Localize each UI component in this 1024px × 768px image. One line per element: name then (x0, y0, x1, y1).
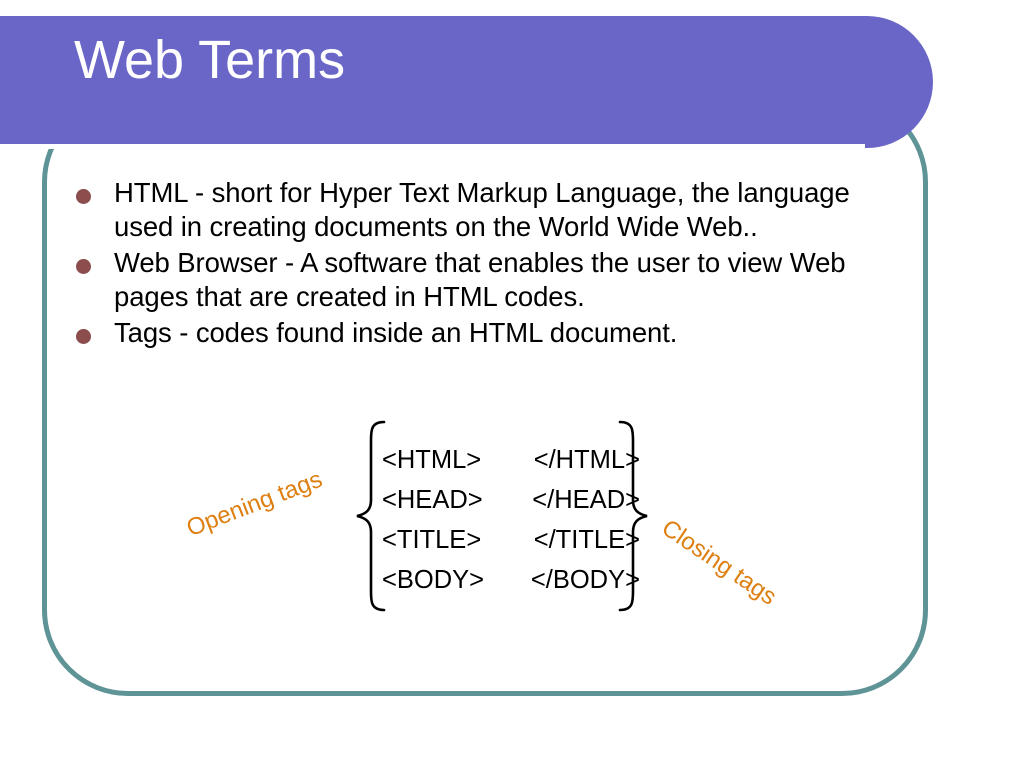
slide-canvas: Web Terms HTML - short for Hyper Text Ma… (0, 0, 1024, 768)
bullet-list: HTML - short for Hyper Text Markup Langu… (76, 176, 916, 352)
page-title: Web Terms (74, 30, 345, 90)
table-row: <BODY> </BODY> (382, 560, 640, 600)
bullet-dot-icon (76, 329, 91, 344)
opening-tag-cell: <BODY> (382, 560, 484, 600)
list-item: Web Browser - A software that enables th… (76, 246, 916, 314)
list-item: Tags - codes found inside an HTML docume… (76, 316, 916, 350)
title-underline-rule (0, 144, 865, 149)
list-item-text: Web Browser - A software that enables th… (114, 246, 916, 314)
bullet-dot-icon (76, 259, 91, 274)
table-row: <TITLE> </TITLE> (382, 520, 640, 560)
tag-rows: <HTML> </HTML> <HEAD> </HEAD> <TITLE> </… (382, 440, 640, 600)
table-row: <HEAD> </HEAD> (382, 480, 640, 520)
list-item-text: Tags - codes found inside an HTML docume… (114, 316, 916, 350)
list-item-text: HTML - short for Hyper Text Markup Langu… (114, 176, 916, 244)
list-item: HTML - short for Hyper Text Markup Langu… (76, 176, 916, 244)
right-curly-brace-icon (616, 418, 650, 614)
opening-tag-cell: <HEAD> (382, 480, 483, 520)
opening-tag-cell: <TITLE> (382, 520, 481, 560)
opening-tag-cell: <HTML> (382, 440, 481, 480)
table-row: <HTML> </HTML> (382, 440, 640, 480)
html-tag-diagram: <HTML> </HTML> <HEAD> </HEAD> <TITLE> </… (330, 418, 690, 618)
bullet-dot-icon (76, 189, 91, 204)
